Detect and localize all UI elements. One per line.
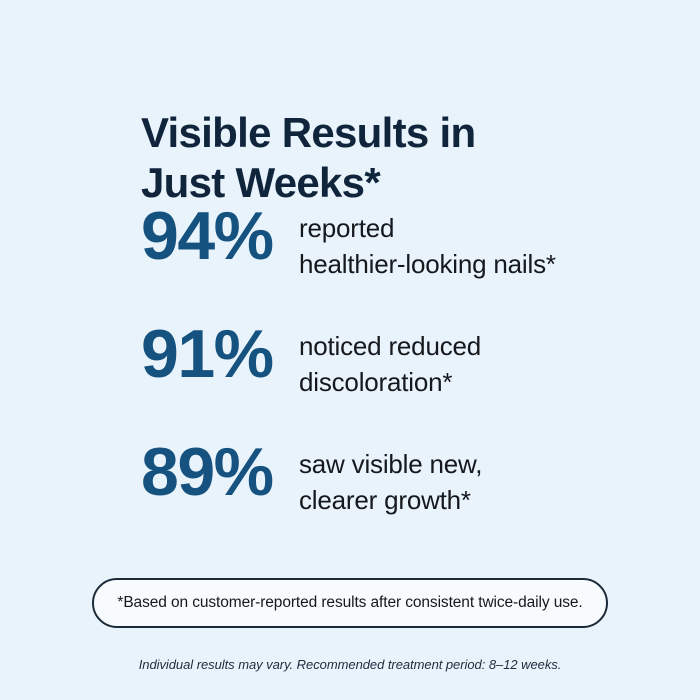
stat-label-2: noticed reduced discoloration* [299,322,700,400]
stat-label-3: saw visible new, clearer growth* [299,440,700,518]
list-item: 94% reported healthier-looking nails* [0,204,700,322]
page-title: Visible Results in Just Weeks* [141,108,611,208]
footnote-badge: *Based on customer-reported results afte… [92,578,608,628]
stat-value-1: 94% [141,200,299,272]
stat-value-3: 89% [141,436,299,508]
footnote-text: *Based on customer-reported results afte… [117,593,582,613]
stat-list: 94% reported healthier-looking nails* 91… [0,204,700,558]
list-item: 91% noticed reduced discoloration* [0,322,700,440]
stat-value-2: 91% [141,318,299,390]
stat-label-1: reported healthier-looking nails* [299,204,700,282]
disclaimer-text: Individual results may vary. Recommended… [0,656,700,674]
list-item: 89% saw visible new, clearer growth* [0,440,700,558]
results-infographic: Visible Results in Just Weeks* 94% repor… [0,0,700,700]
